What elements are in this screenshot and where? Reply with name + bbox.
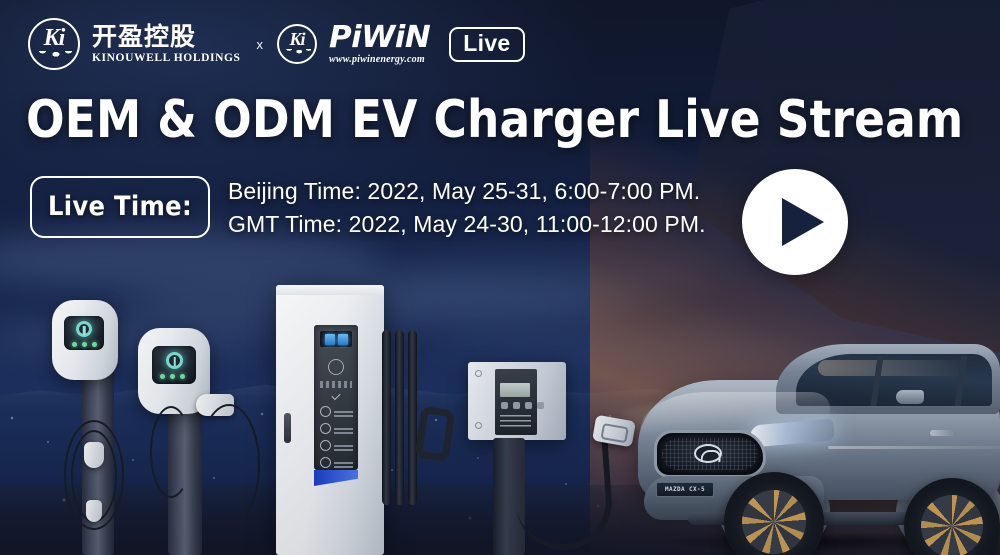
live-time-list: Beijing Time: 2022, May 25-31, 6:00-7:00… (228, 178, 706, 237)
piwin-wordmark: PiWiN (329, 23, 430, 53)
live-badge: Live (449, 27, 524, 62)
panel-info-row (320, 439, 353, 452)
brand-logo-bar: Ki 开盈控股 KINOUWELL HOLDINGS x Ki PiWiN ww… (28, 18, 525, 70)
digital-display (320, 331, 352, 347)
side-mirror (896, 390, 924, 404)
brand-emblem-icon (694, 444, 722, 463)
panel-info-row (320, 422, 353, 435)
button-row (501, 402, 544, 409)
keypad-strip (320, 381, 352, 388)
piwin-url: www.piwinenergy.com (329, 54, 427, 66)
body-crease (828, 446, 1000, 449)
live-badge-label: Live (463, 30, 510, 56)
license-plate-text: MAZDA CX-5 (665, 486, 705, 493)
status-leds (160, 374, 185, 379)
status-ring-icon (76, 321, 92, 337)
play-triangle-icon (782, 198, 824, 246)
brand-separator: x (253, 37, 266, 52)
wheel-rim (742, 490, 806, 554)
mount-screw-icon (475, 370, 482, 377)
chevron-down-icon (331, 391, 340, 400)
charging-cable (198, 404, 260, 526)
piwin-name-block: PiWiN www.piwinenergy.com (329, 23, 427, 66)
license-plate: MAZDA CX-5 (656, 482, 714, 497)
status-ring-icon (166, 352, 183, 369)
kinouwell-logo-icon: Ki (28, 18, 80, 70)
kinouwell-name-cn: 开盈控股 (92, 24, 241, 50)
dc-charging-gun (415, 406, 456, 462)
kinouwell-name-block: 开盈控股 KINOUWELL HOLDINGS (92, 24, 241, 65)
panel-info-row (320, 456, 353, 469)
kinouwell-name-en: KINOUWELL HOLDINGS (92, 51, 241, 65)
ac-wallbox-charger (138, 328, 258, 555)
ac-wallbox-charger (40, 300, 150, 555)
accent-stripe (314, 470, 358, 486)
page-title: OEM & ODM EV Charger Live Stream (26, 92, 963, 148)
charger-faceplate (495, 369, 537, 435)
live-time-label: Live Time: (48, 192, 192, 222)
lcd-screen (500, 383, 530, 397)
mount-screw-icon (475, 422, 482, 429)
wallmount-charger-unit (468, 362, 566, 440)
door-handle (930, 430, 956, 436)
charging-connector (86, 500, 102, 522)
electric-suv: MAZDA CX-5 (628, 336, 1000, 555)
panel-info-row (320, 405, 353, 418)
live-time-beijing: Beijing Time: 2022, May 25-31, 6:00-7:00… (228, 178, 706, 204)
live-time-gmt: GMT Time: 2022, May 24-30, 11:00-12:00 P… (228, 211, 706, 237)
charging-connector (84, 442, 104, 468)
status-leds (72, 342, 97, 347)
rfid-reader-icon (328, 359, 344, 375)
live-time-block: Live Time: Beijing Time: 2022, May 25-31… (30, 176, 706, 238)
live-time-badge: Live Time: (30, 176, 210, 238)
wheel-rim (921, 495, 983, 555)
play-button[interactable] (742, 169, 848, 275)
live-stream-banner: MAZDA CX-5 Ki 开盈控股 KINOUWELL HOLDINGS x … (0, 0, 1000, 555)
piwin-logo-icon: Ki (277, 24, 317, 64)
cabinet-control-panel (314, 325, 358, 470)
charging-cable (150, 406, 192, 498)
indicator-list (500, 415, 531, 430)
cabinet-door-handle (284, 413, 291, 443)
dc-fast-charger-cabinet (276, 285, 384, 555)
cabinet-top (276, 285, 384, 295)
